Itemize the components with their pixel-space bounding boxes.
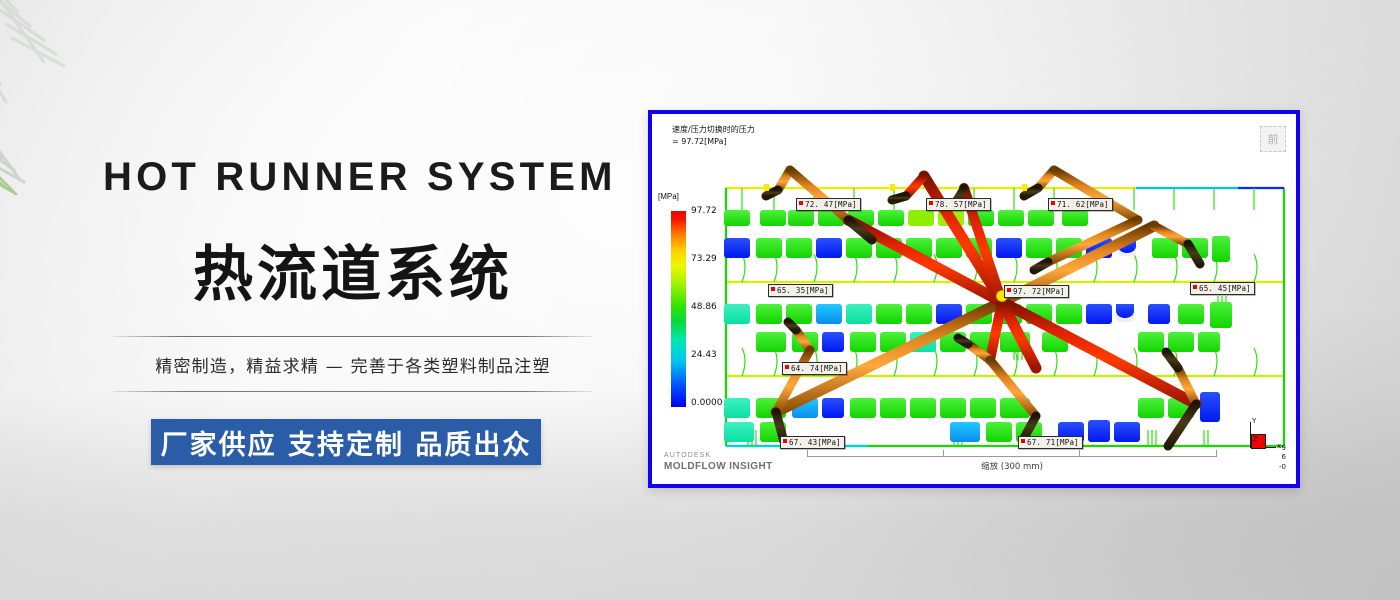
callout-top-mid[interactable]: 78. 57[MPa] bbox=[926, 198, 991, 211]
scale-tick-2 bbox=[1079, 450, 1080, 457]
axis-z-label: Z bbox=[1253, 435, 1257, 443]
brand-product-label: MOLDFLOW INSIGHT bbox=[664, 461, 773, 473]
colorbar-tick-1: 73.29 bbox=[691, 254, 717, 264]
divider-top bbox=[113, 336, 592, 337]
simulation-header-line2: = 97.72[MPa] bbox=[672, 137, 727, 146]
callout-center[interactable]: 97. 72[MPa] bbox=[1004, 285, 1069, 298]
hero-text-block: HOT RUNNER SYSTEM 热流道系统 精密制造，精益求精 — 完善于各… bbox=[0, 0, 645, 600]
view-front-button[interactable]: 前 bbox=[1260, 126, 1286, 152]
callout-low-left[interactable]: 64. 74[MPa] bbox=[782, 362, 847, 375]
axis-y-label: Y bbox=[1252, 417, 1256, 425]
colorbar-unit-label: [MPa] bbox=[658, 192, 679, 201]
page-title-english: HOT RUNNER SYSTEM bbox=[103, 155, 603, 200]
colorbar-gradient bbox=[670, 210, 687, 408]
page-subtitle: 精密制造，精益求精 — 完善于各类塑料制品注塑 bbox=[103, 352, 603, 377]
callout-mid-right[interactable]: 65. 45[MPa] bbox=[1190, 282, 1255, 295]
page-title-chinese: 热流道系统 bbox=[103, 226, 603, 313]
colorbar-tick-0: 97.72 bbox=[691, 206, 717, 216]
moldflow-simulation-panel: 速度/压力切换时的压力 = 97.72[MPa] 前 [MPa] 97.72 7… bbox=[648, 110, 1300, 488]
scale-bar-label: 缩放 (300 mm) bbox=[807, 460, 1217, 472]
simulation-header: 速度/压力切换时的压力 = 97.72[MPa] bbox=[672, 124, 755, 147]
callout-mid-left[interactable]: 65. 35[MPa] bbox=[768, 284, 833, 297]
scale-tick-1 bbox=[943, 450, 944, 457]
pressure-colorbar: [MPa] 97.72 73.29 48.86 24.43 0.0000 bbox=[658, 192, 722, 422]
mold-mesh-plot: 72. 47[MPa] 78. 57[MPa] 71. 62[MPa] 65. … bbox=[718, 154, 1296, 454]
axis-triad-icon: Z Y x -9 6 -0 bbox=[1240, 418, 1286, 470]
scale-bar: 缩放 (300 mm) bbox=[807, 448, 1217, 474]
hero-banner: HOT RUNNER SYSTEM 热流道系统 精密制造，精益求精 — 完善于各… bbox=[0, 0, 1400, 600]
scale-tick-0 bbox=[807, 450, 808, 457]
scale-tick-3 bbox=[1216, 450, 1217, 457]
divider-bottom bbox=[113, 391, 592, 392]
brand-autodesk-label: AUTODESK bbox=[664, 452, 773, 460]
autodesk-brand: AUTODESK MOLDFLOW INSIGHT bbox=[664, 452, 773, 472]
cta-button[interactable]: 厂家供应 支持定制 品质出众 bbox=[151, 419, 541, 465]
axis-value-1: 6 bbox=[1279, 453, 1286, 462]
axis-triad-values: -9 6 -0 bbox=[1279, 444, 1286, 472]
callout-top-left[interactable]: 72. 47[MPa] bbox=[796, 198, 861, 211]
scale-bar-line bbox=[807, 456, 1217, 457]
simulation-header-line1: 速度/压力切换时的压力 bbox=[672, 125, 755, 134]
callout-top-right[interactable]: 71. 62[MPa] bbox=[1048, 198, 1113, 211]
simulation-viewport: 速度/压力切换时的压力 = 97.72[MPa] 前 [MPa] 97.72 7… bbox=[652, 114, 1296, 484]
colorbar-tick-3: 24.43 bbox=[691, 350, 717, 360]
colorbar-tick-2: 48.86 bbox=[691, 302, 717, 312]
axis-value-0: -9 bbox=[1279, 444, 1286, 453]
axis-value-2: -0 bbox=[1279, 463, 1286, 472]
